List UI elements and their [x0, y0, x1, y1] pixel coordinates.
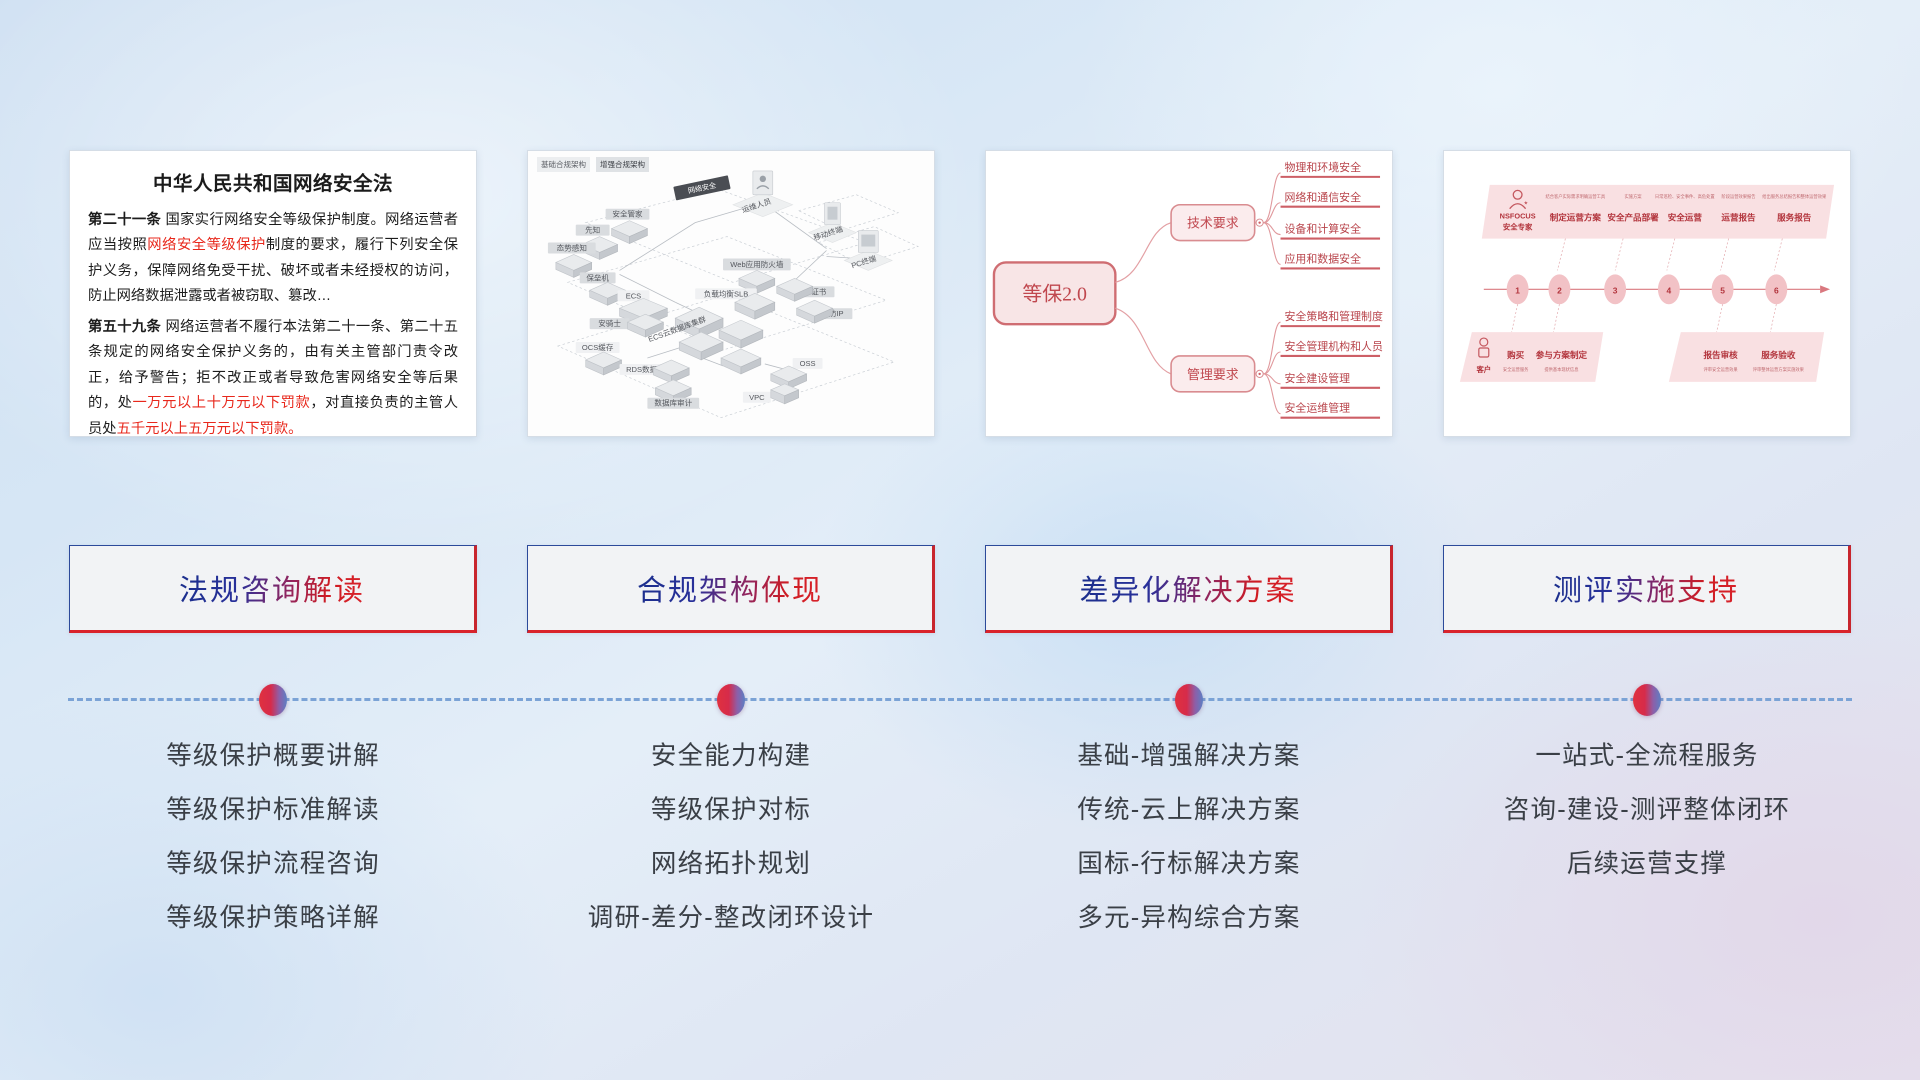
nsfocus-service-timeline-card[interactable]: ★ NSFOCUS 安全专家 结合客户实际需求明确运营工具 制定运营方案 实施方… — [1443, 150, 1851, 437]
law-article-21-run-1-highlight: 网络安全等级保护 — [147, 237, 266, 253]
rail-dot-cell-4 — [1443, 670, 1851, 730]
column-compliance-architecture: 安全能力构建 等级保护对标 网络拓扑规划 调研-差分-整改闭环设计 — [527, 735, 935, 934]
top-step-3-title: 运营报告 — [1721, 212, 1756, 223]
mindmap-branch-1-leaf-0: 安全策略和管理制度 — [1285, 309, 1383, 323]
rail-dot-cell-2 — [527, 670, 935, 730]
bottom-step-2-note: 评审安全运营效果 — [1704, 366, 1739, 373]
top-step-3-note: 阶段运营效果报告 — [1721, 193, 1756, 200]
architecture-tabs[interactable]: 基础合规架构 增强合规架构 — [537, 157, 649, 172]
arch-node-oss: OSS — [771, 358, 823, 389]
heading-regulation-consult-label: 法规咨询解读 — [179, 567, 365, 609]
arch-tab-basic[interactable]: 基础合规架构 — [537, 157, 590, 172]
arch-node-ops-person: 运维人员 — [733, 171, 793, 217]
arch-tab-enhanced[interactable]: 增强合规架构 — [596, 157, 649, 172]
arch-node-ca: CA证书 — [777, 278, 835, 301]
heading-compliance-architecture[interactable]: 合规架构体现 — [527, 545, 935, 633]
rail-dots-row — [0, 670, 1920, 730]
timeline-node-1: 1 — [1515, 285, 1520, 295]
bottom-step-3-note: 评审整体运营方案实施效果 — [1753, 366, 1805, 373]
list-item: 国标-行标解决方案 — [1077, 843, 1300, 880]
heading-differentiated-solution[interactable]: 差异化解决方案 — [985, 545, 1393, 633]
preview-cards-row: 中华人民共和国网络安全法 第二十一条 国家实行网络安全等级保护制度。网络运营者应… — [0, 150, 1920, 437]
mindmap-branch-0-label: 技术要求 — [1187, 216, 1239, 231]
svg-text:ECS: ECS — [626, 291, 642, 300]
top-step-0-title: 制定运营方案 — [1550, 212, 1602, 223]
rail-dot-icon-4 — [1633, 684, 1661, 716]
arch-node-vpc: VPC — [743, 384, 799, 404]
law-article-59-run-3-highlight: 五千元以上五万元以下罚款。 — [117, 421, 303, 437]
list-item: 多元-异构综合方案 — [1077, 897, 1300, 934]
list-item: 网络拓扑规划 — [651, 843, 811, 880]
dengbao-mindmap-card[interactable]: 等保2.0 技术要求 物理和环境安全 网络和通信安全 设备和计算安全 — [985, 150, 1393, 437]
svg-text:先知: 先知 — [585, 225, 600, 235]
rail-dot-cell-3 — [985, 670, 1393, 730]
detail-columns-row: 等级保护概要讲解 等级保护标准解读 等级保护流程咨询 等级保护策略详解 安全能力… — [0, 735, 1920, 934]
list-item: 基础-增强解决方案 — [1077, 735, 1300, 772]
law-article-21: 第二十一条 国家实行网络安全等级保护制度。网络运营者应当按照网络安全等级保护制度… — [88, 208, 458, 310]
list-item: 咨询-建设-测评整体闭环 — [1504, 789, 1790, 826]
bottom-step-1-note: 提供基本现状信息 — [1544, 366, 1579, 373]
mindmap-branch-1-leaf-1: 安全管理机构和人员 — [1285, 339, 1383, 353]
headings-row: 法规咨询解读 合规架构体现 差异化解决方案 测评实施支持 — [0, 545, 1920, 633]
list-item: 等级保护对标 — [651, 789, 811, 826]
arch-node-rds: RDS数据库 — [620, 360, 690, 383]
timeline-node-2: 2 — [1557, 285, 1562, 295]
list-item: 一站式-全流程服务 — [1535, 735, 1758, 772]
arch-node-mobile: 移动终端 — [809, 203, 857, 243]
column-differentiated-solution: 基础-增强解决方案 传统-云上解决方案 国标-行标解决方案 多元-异构综合方案 — [985, 735, 1393, 934]
arch-node-anquanguanjia: 安全管家 — [606, 209, 650, 244]
column-regulation-consult: 等级保护概要讲解 等级保护标准解读 等级保护流程咨询 等级保护策略详解 — [69, 735, 477, 934]
top-step-0-note: 结合客户实际需求明确运营工具 — [1545, 193, 1605, 200]
top-step-2-title: 安全运营 — [1668, 212, 1703, 223]
svg-text:态势感知: 态势感知 — [557, 243, 587, 253]
architecture-diagram: 网络安全 安全管家 先知 — [528, 151, 934, 437]
nsfocus-brand-line2: 安全专家 — [1503, 223, 1533, 232]
mindmap-branch-1-label: 管理要求 — [1187, 367, 1239, 382]
mindmap-branch-0-leaf-2: 设备和计算安全 — [1285, 222, 1362, 236]
law-article-21-number: 第二十一条 — [88, 212, 161, 228]
rail-dot-icon-2 — [717, 684, 745, 716]
heading-regulation-consult[interactable]: 法规咨询解读 — [69, 545, 477, 633]
heading-compliance-architecture-label: 合规架构体现 — [637, 567, 823, 609]
svg-text:OSS: OSS — [800, 359, 816, 368]
list-item: 等级保护策略详解 — [166, 897, 380, 934]
bottom-step-0-note: 安全运营服务 — [1503, 366, 1529, 373]
poster-canvas: 中华人民共和国网络安全法 第二十一条 国家实行网络安全等级保护制度。网络运营者应… — [0, 0, 1920, 1080]
rail-dot-icon-1 — [259, 684, 287, 716]
timeline-node-6: 6 — [1774, 285, 1779, 295]
list-item: 后续运营支撑 — [1567, 843, 1727, 880]
bottom-step-1-title: 参与方案制定 — [1536, 349, 1588, 360]
mindmap-branch-1-leaf-2: 安全建设管理 — [1285, 371, 1351, 385]
arch-node-ocs: OCS缓存 — [576, 342, 622, 375]
arch-node-antiddos-ip: 高防IP — [797, 300, 853, 323]
bottom-step-2-title: 报告审核 — [1704, 349, 1739, 360]
list-item: 传统-云上解决方案 — [1077, 789, 1300, 826]
rail-dot-cell-1 — [69, 670, 477, 730]
top-step-1-title: 安全产品部署 — [1607, 212, 1659, 223]
customer-label: 客户 — [1475, 365, 1491, 374]
bottom-step-3-title: 服务验收 — [1761, 349, 1796, 360]
list-item: 等级保护标准解读 — [166, 789, 380, 826]
svg-text:保垒机: 保垒机 — [586, 272, 609, 282]
list-item: 等级保护流程咨询 — [166, 843, 380, 880]
arch-node-pc: PC终端 — [844, 231, 892, 271]
mindmap-diagram: 等保2.0 技术要求 物理和环境安全 网络和通信安全 设备和计算安全 — [986, 151, 1392, 437]
mindmap-branch-0-leaf-3: 应用和数据安全 — [1285, 251, 1362, 265]
column-assessment-support: 一站式-全流程服务 咨询-建设-测评整体闭环 后续运营支撑 — [1443, 735, 1851, 934]
svg-text:Web应用防火墙: Web应用防火墙 — [730, 259, 784, 269]
mindmap-branch-1-leaf-3: 安全运维管理 — [1285, 401, 1351, 415]
bottom-step-0-title: 购买 — [1507, 349, 1525, 360]
timeline-node-3: 3 — [1613, 285, 1618, 295]
list-item: 等级保护概要讲解 — [166, 735, 380, 772]
list-item: 安全能力构建 — [651, 735, 811, 772]
top-step-1-note: 实施方案 — [1625, 193, 1643, 200]
top-step-4-title: 服务报告 — [1777, 212, 1812, 223]
law-article-59: 第五十九条 网络运营者不履行本法第二十一条、第二十五条规定的网络安全保护义务的，… — [88, 315, 458, 437]
svg-text:安全管家: 安全管家 — [612, 209, 643, 219]
arch-node-db-audit: 数据库审计 — [647, 380, 699, 409]
svg-text:VPC: VPC — [749, 393, 765, 402]
mindmap-branch-0-leaf-1: 网络和通信安全 — [1285, 190, 1362, 204]
heading-assessment-support-label: 测评实施支持 — [1553, 567, 1739, 609]
compliance-architecture-card[interactable]: 基础合规架构 增强合规架构 — [527, 150, 935, 437]
rail-dot-icon-3 — [1175, 684, 1203, 716]
top-step-2-note: 日常巡检、安全事件、高危处置 — [1655, 193, 1715, 200]
timeline-rail-area — [0, 670, 1920, 730]
list-item: 调研-差分-整改闭环设计 — [588, 897, 874, 934]
svg-text:★: ★ — [1524, 201, 1529, 207]
svg-text:负载均衡SLB: 负载均衡SLB — [704, 288, 748, 298]
heading-assessment-support[interactable]: 测评实施支持 — [1443, 545, 1851, 633]
law-card-title: 中华人民共和国网络安全法 — [88, 167, 458, 196]
arch-node-taishiganzhi: 态势感知 — [548, 243, 596, 278]
law-article-59-number: 第五十九条 — [88, 319, 161, 335]
svg-text:安骑士: 安骑士 — [598, 318, 621, 328]
service-timeline-diagram: ★ NSFOCUS 安全专家 结合客户实际需求明确运营工具 制定运营方案 实施方… — [1444, 151, 1850, 437]
timeline-node-5: 5 — [1720, 285, 1725, 295]
svg-text:数据库审计: 数据库审计 — [654, 398, 692, 408]
heading-differentiated-solution-label: 差异化解决方案 — [1079, 567, 1296, 609]
mindmap-branch-0-leaf-0: 物理和环境安全 — [1285, 160, 1362, 174]
cybersecurity-law-card[interactable]: 中华人民共和国网络安全法 第二十一条 国家实行网络安全等级保护制度。网络运营者应… — [69, 150, 477, 437]
mindmap-root-label: 等保2.0 — [1022, 282, 1087, 305]
law-article-59-run-1-highlight: 一万元以上十万元以下罚款 — [132, 395, 310, 411]
timeline-node-4: 4 — [1667, 285, 1672, 295]
top-step-4-note: 给出服务总结报告和整体运营效果 — [1762, 193, 1827, 200]
svg-text:OCS缓存: OCS缓存 — [582, 342, 614, 352]
nsfocus-brand-line1: NSFOCUS — [1500, 212, 1536, 221]
